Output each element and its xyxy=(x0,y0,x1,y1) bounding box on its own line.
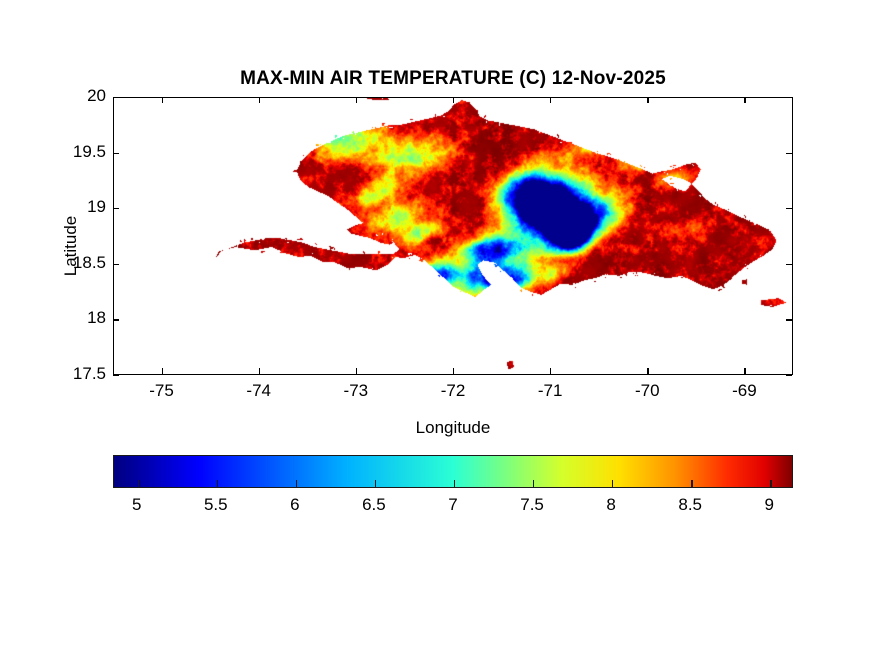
colorbar-tick xyxy=(217,480,218,487)
colorbar-tick-label: 6 xyxy=(265,495,325,515)
colorbar-tick xyxy=(533,480,534,487)
colorbar-tick-label: 9 xyxy=(739,495,799,515)
colorbar-tick-label: 5.5 xyxy=(186,495,246,515)
colorbar-tick xyxy=(375,480,376,487)
x-tick xyxy=(162,368,163,374)
colorbar-tick-label: 7 xyxy=(423,495,483,515)
y-tick xyxy=(113,153,119,154)
x-tick-label: -73 xyxy=(321,381,391,401)
x-tick-top xyxy=(259,97,260,103)
y-tick xyxy=(113,319,119,320)
figure-root: MAX-MIN AIR TEMPERATURE (C) 12-Nov-2025 … xyxy=(0,0,875,656)
x-tick-label: -72 xyxy=(418,381,488,401)
y-tick-right xyxy=(786,264,792,265)
y-tick-label: 20 xyxy=(44,86,106,106)
colorbar-tick-label: 8 xyxy=(581,495,641,515)
colorbar-tick-label: 6.5 xyxy=(344,495,404,515)
colorbar-tick xyxy=(691,480,692,487)
y-tick xyxy=(113,208,119,209)
y-tick xyxy=(113,375,119,376)
x-tick-top xyxy=(453,97,454,103)
x-tick xyxy=(647,368,648,374)
colorbar-tick xyxy=(770,480,771,487)
x-tick-label: -75 xyxy=(127,381,197,401)
y-tick-label: 19.5 xyxy=(44,142,106,162)
y-tick-right xyxy=(786,97,792,98)
x-tick xyxy=(453,368,454,374)
y-axis-title: Latitude xyxy=(61,166,81,326)
map-axes xyxy=(113,97,793,375)
chart-title: MAX-MIN AIR TEMPERATURE (C) 12-Nov-2025 xyxy=(113,68,793,90)
colorbar xyxy=(113,455,793,488)
colorbar-tick xyxy=(454,480,455,487)
x-tick-top xyxy=(162,97,163,103)
y-tick xyxy=(113,97,119,98)
x-tick-label: -74 xyxy=(224,381,294,401)
y-tick-right xyxy=(786,319,792,320)
x-tick-label: -70 xyxy=(612,381,682,401)
colorbar-tick-label: 8.5 xyxy=(660,495,720,515)
x-tick-top xyxy=(356,97,357,103)
x-tick xyxy=(356,368,357,374)
colorbar-tick xyxy=(138,480,139,487)
x-tick xyxy=(744,368,745,374)
x-tick-top xyxy=(647,97,648,103)
y-tick-right xyxy=(786,208,792,209)
colorbar-tick-label: 5 xyxy=(107,495,167,515)
x-tick-top xyxy=(550,97,551,103)
x-tick-top xyxy=(744,97,745,103)
colorbar-tick xyxy=(612,480,613,487)
y-tick-right xyxy=(786,375,792,376)
colorbar-tick-label: 7.5 xyxy=(502,495,562,515)
x-tick xyxy=(550,368,551,374)
y-tick xyxy=(113,264,119,265)
temperature-heatmap xyxy=(114,98,793,375)
colorbar-tick xyxy=(296,480,297,487)
y-tick-right xyxy=(786,153,792,154)
x-tick-label: -71 xyxy=(515,381,585,401)
x-tick-label: -69 xyxy=(709,381,779,401)
y-tick-label: 17.5 xyxy=(44,364,106,384)
x-axis-title: Longitude xyxy=(113,418,793,438)
x-tick xyxy=(259,368,260,374)
